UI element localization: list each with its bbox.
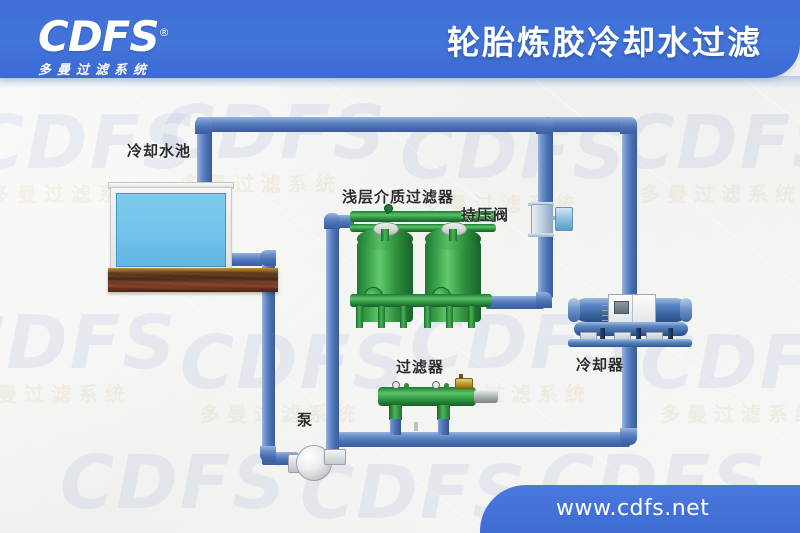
cooler-unit [568, 292, 692, 347]
soil-ground [108, 268, 278, 292]
pipe-elbow-filteroutlet [536, 292, 552, 308]
watermark-sub: 多曼过滤系统 [660, 398, 800, 427]
filter-drain-stub [414, 422, 418, 431]
filter-brass-stem [459, 374, 463, 379]
pipe-elbow-pooldown [260, 250, 276, 266]
filter-top-valve-stem [386, 210, 389, 214]
diagram-page: CDFS 多曼过滤系统 CDFS 多曼过滤系统 CDFS 多曼过滤系统 CDFS… [0, 0, 800, 533]
tank-2-neck [449, 229, 457, 241]
label-pump: 泵 [297, 409, 313, 430]
filter-leg [468, 306, 475, 328]
cooler-base-skid [568, 339, 692, 347]
label-cooler: 冷却器 [576, 354, 624, 375]
label-media-filter: 浅层介质过滤器 [342, 186, 454, 207]
valve-actuator [555, 207, 573, 231]
pipe-bottom-right [330, 432, 630, 447]
pipe-cooler-return [622, 345, 637, 440]
pipe-top-main [197, 117, 553, 132]
registered-icon: ® [159, 26, 169, 39]
filter-gauge-icon [392, 381, 400, 389]
pump-discharge [324, 449, 346, 465]
pipe-elbow-pumpcorner [260, 446, 276, 462]
filter-leg [356, 306, 363, 328]
pipe-right-vertical-lower [538, 228, 553, 298]
filter-support-leg [389, 405, 402, 420]
watermark-mark: CDFS [60, 440, 288, 526]
pipe-filter-inlet-riser [326, 222, 339, 454]
filter-leg-pipe [438, 419, 449, 435]
pipe-elbow-bottomright [620, 428, 637, 445]
cooler-vent-line [602, 315, 609, 316]
watermark-mark: CDFS [620, 100, 800, 186]
cooler-vent-line [602, 310, 609, 311]
cooler-vent-line [602, 305, 609, 306]
filter-end-cap [474, 390, 498, 403]
filter-support-leg [437, 405, 450, 420]
filter-leg-pipe [390, 419, 401, 435]
logo-subtitle: 多曼过滤系统 [38, 59, 268, 78]
cooler-cylinder-cap-left [568, 298, 580, 322]
label-cooling-pool: 冷却水池 [127, 140, 191, 161]
cooler-cylinder-cap-right [680, 298, 692, 322]
filter-nozzle [444, 383, 449, 388]
filter-leg [446, 306, 453, 328]
watermark-mark: CDFS [0, 300, 178, 386]
tank-1-neck [381, 229, 389, 241]
filter-nozzle [404, 383, 409, 388]
watermark-mark: CDFS [180, 320, 408, 406]
watermark-sub: 多曼过滤系统 [0, 378, 132, 407]
pipe-cooler-supply [622, 122, 637, 300]
page-title: 轮胎炼胶冷却水过滤 [447, 16, 762, 64]
cooling-pool-water [116, 193, 226, 267]
cooler-vent-line [602, 320, 609, 321]
filter-leg [424, 306, 431, 328]
pipe-top-right-branch [548, 117, 630, 132]
filter-brass-fitting [455, 378, 473, 389]
cooler-display-screen [614, 301, 629, 314]
valve-body [531, 204, 553, 236]
filter-leg [400, 306, 407, 328]
logo-wordmark: CDFS® [38, 12, 268, 58]
brand-logo: CDFS® 多曼过滤系统 [38, 12, 268, 70]
page-footer: www.cdfs.net [480, 485, 800, 533]
pipe-elbow-filterinlet [324, 213, 340, 229]
pipe-elbow-coolerright [620, 117, 637, 134]
page-header: CDFS® 多曼过滤系统 轮胎炼胶冷却水过滤 [0, 0, 800, 78]
filter-vessel [378, 387, 476, 406]
website-url[interactable]: www.cdfs.net [556, 496, 709, 521]
valve-flange-bottom [528, 233, 554, 237]
label-filter: 过滤器 [396, 356, 444, 377]
pipe-elbow-topleft [195, 117, 212, 134]
label-pressure-valve: 持压阀 [461, 204, 509, 225]
pipe-elbow-topright [536, 117, 553, 134]
filter-leg [378, 306, 385, 328]
filter-gauge-icon [432, 381, 440, 389]
cooler-vent-line [602, 300, 609, 301]
